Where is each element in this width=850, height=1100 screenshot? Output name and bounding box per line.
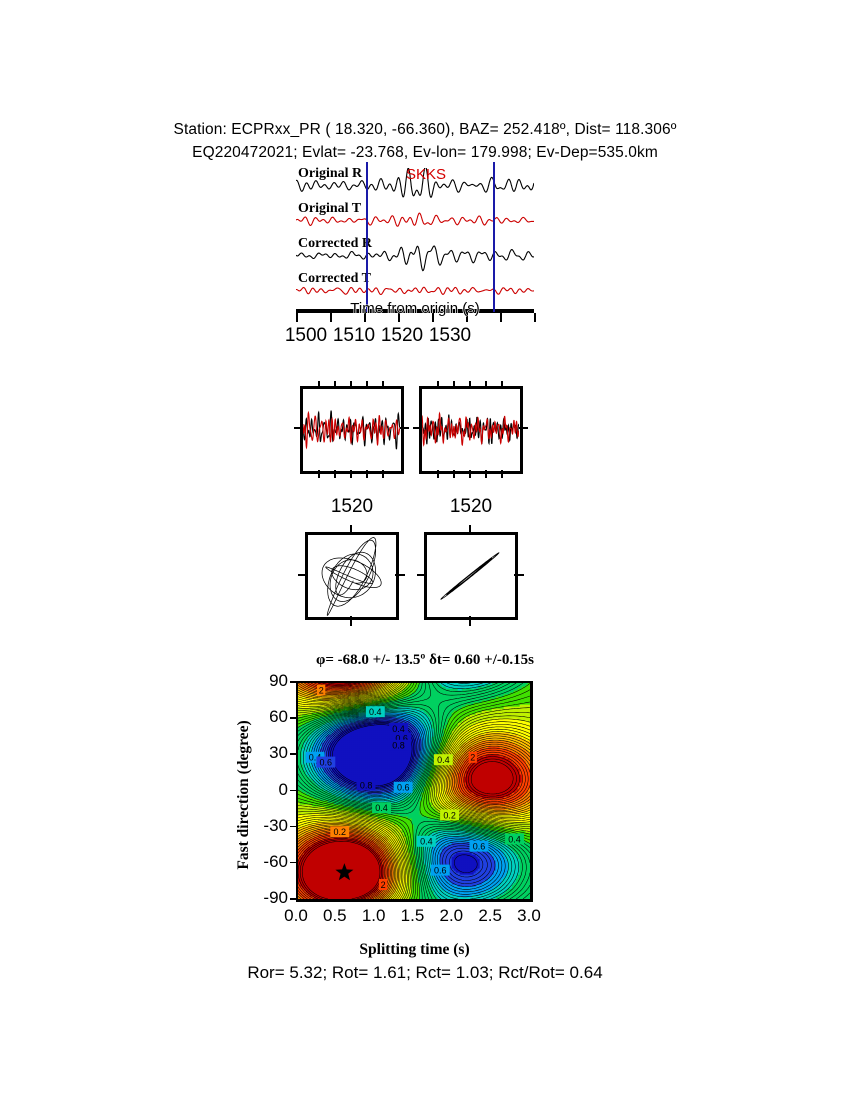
time-axis-tick bbox=[534, 313, 536, 322]
waveform-trace-label: Corrected T bbox=[298, 271, 371, 287]
window-marker-line bbox=[366, 162, 368, 312]
particle-motion-box-corrected bbox=[424, 532, 518, 620]
window-waveform-traces bbox=[422, 389, 519, 470]
window-box-tick bbox=[501, 381, 503, 389]
figure-header: Station: ECPRxx_PR ( 18.320, -66.360), B… bbox=[0, 118, 850, 164]
particle-motion-axis-tick bbox=[417, 574, 427, 576]
window-box-tick bbox=[350, 470, 352, 478]
window-box-tick bbox=[437, 470, 439, 478]
window-box-tick bbox=[469, 470, 471, 478]
window-box-tick bbox=[318, 381, 320, 389]
window-marker-line bbox=[493, 162, 495, 312]
window-box-tick bbox=[318, 470, 320, 478]
window-box-tick bbox=[519, 427, 528, 429]
waveform-trace-label: Original R bbox=[298, 166, 362, 182]
window-box-tick bbox=[453, 381, 455, 389]
window-box-tick bbox=[485, 381, 487, 389]
particle-motion-axis-tick bbox=[350, 525, 352, 535]
window-box-tick bbox=[350, 381, 352, 389]
window-box-tick bbox=[294, 427, 303, 429]
window-waveform-box-right bbox=[419, 386, 523, 474]
particle-motion-axis-tick bbox=[469, 525, 471, 535]
particle-motion-axis-tick bbox=[298, 574, 308, 576]
particle-motion-axis-tick bbox=[469, 616, 471, 626]
window-box-tick bbox=[334, 470, 336, 478]
window-box-tick bbox=[382, 470, 384, 478]
window-box-tick bbox=[382, 381, 384, 389]
window-box-tick bbox=[334, 381, 336, 389]
energy-contour-plot: 0.40.40.60.80.40.60.80.60.420.40.20.20.4… bbox=[296, 681, 533, 902]
waveform-trace-row: Original T bbox=[296, 203, 534, 238]
header-line-event: EQ220472021; Evlat= -23.768, Ev-lon= 179… bbox=[0, 141, 850, 164]
window-left-tick-label: 1520 bbox=[300, 496, 404, 518]
window-right-tick-label: 1520 bbox=[419, 496, 523, 518]
particle-motion-path bbox=[308, 535, 395, 616]
window-box-tick bbox=[400, 427, 409, 429]
window-box-tick bbox=[453, 470, 455, 478]
window-waveform-box-left bbox=[300, 386, 404, 474]
waveform-trace-row: Corrected R bbox=[296, 238, 534, 273]
time-axis-title: Time from origin (s) bbox=[296, 300, 534, 317]
waveform-trace-label: Original T bbox=[298, 201, 361, 217]
phase-label-skks: SKKS bbox=[406, 166, 446, 183]
particle-motion-path bbox=[427, 535, 514, 616]
window-box-tick bbox=[469, 381, 471, 389]
particle-motion-axis-tick bbox=[350, 616, 352, 626]
window-box-tick bbox=[437, 381, 439, 389]
waveform-panel: Original ROriginal TCorrected RCorrected… bbox=[296, 168, 534, 308]
contour-surface: 0.40.40.60.80.40.60.80.60.420.40.20.20.4… bbox=[298, 683, 530, 899]
window-box-tick bbox=[485, 470, 487, 478]
splitting-result-title: φ= -68.0 +/- 13.5º δt= 0.60 +/-0.15s bbox=[0, 652, 850, 669]
window-box-tick bbox=[366, 381, 368, 389]
window-waveform-traces bbox=[303, 389, 400, 470]
window-box-tick bbox=[366, 470, 368, 478]
particle-motion-axis-tick bbox=[514, 574, 524, 576]
window-box-tick bbox=[413, 427, 422, 429]
window-box-tick bbox=[501, 470, 503, 478]
waveform-trace-label: Corrected R bbox=[298, 236, 372, 252]
particle-motion-axis-tick bbox=[395, 574, 405, 576]
particle-motion-box-uncorrected bbox=[305, 532, 399, 620]
header-line-station: Station: ECPRxx_PR ( 18.320, -66.360), B… bbox=[0, 118, 850, 141]
time-axis-tick-label: 1530 bbox=[421, 325, 479, 347]
